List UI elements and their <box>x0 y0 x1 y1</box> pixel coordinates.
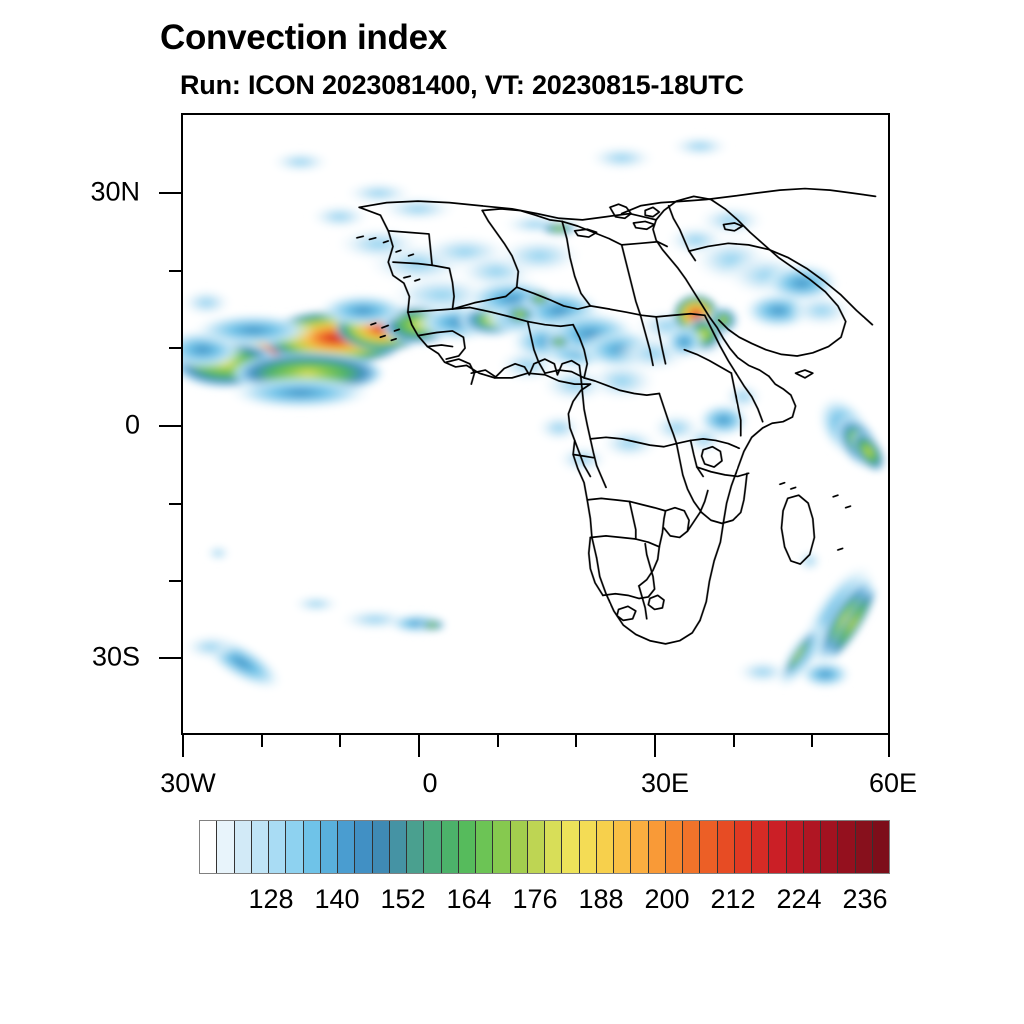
x-tick-minor-20e <box>575 735 577 747</box>
colorbar-cell-26 <box>649 821 666 873</box>
x-tick-30e <box>654 735 656 757</box>
colorbar-cell-37 <box>838 821 855 873</box>
y-tick-0 <box>159 425 181 427</box>
colorbar-cell-36 <box>821 821 838 873</box>
colorbar-cell-23 <box>597 821 614 873</box>
page-title: Convection index <box>160 18 447 58</box>
colorbar-cell-8 <box>338 821 355 873</box>
colorbar-cell-29 <box>700 821 717 873</box>
x-tick-minor-10e <box>497 735 499 747</box>
y-axis-label-30n: 30N <box>20 177 140 208</box>
x-tick-0 <box>418 735 420 757</box>
colorbar-cell-21 <box>562 821 579 873</box>
x-axis-label-60e: 60E <box>823 768 963 799</box>
x-axis-label-30e: 30E <box>595 768 735 799</box>
y-tick-minor-20s <box>169 580 181 582</box>
x-tick-60e <box>888 735 890 757</box>
colorbar[interactable] <box>199 820 890 874</box>
colorbar-cell-24 <box>614 821 631 873</box>
colorbar-cell-10 <box>373 821 390 873</box>
y-tick-30s <box>159 657 181 659</box>
colorbar-cell-28 <box>683 821 700 873</box>
y-tick-minor-10n <box>169 347 181 349</box>
x-axis-label-30w: 30W <box>118 768 258 799</box>
colorbar-cell-18 <box>511 821 528 873</box>
map-plot-area[interactable] <box>181 113 890 735</box>
colorbar-cell-17 <box>493 821 510 873</box>
colorbar-cell-33 <box>769 821 786 873</box>
colorbar-cell-34 <box>787 821 804 873</box>
y-axis-label-30s: 30S <box>20 642 140 673</box>
colorbar-cell-7 <box>321 821 338 873</box>
colorbar-cell-6 <box>304 821 321 873</box>
colorbar-cell-5 <box>286 821 303 873</box>
colorbar-cell-11 <box>390 821 407 873</box>
colorbar-cell-15 <box>459 821 476 873</box>
colorbar-cell-9 <box>355 821 372 873</box>
colorbar-cell-16 <box>476 821 493 873</box>
colorbar-cell-39 <box>873 821 889 873</box>
colorbar-cell-3 <box>252 821 269 873</box>
colorbar-cell-35 <box>804 821 821 873</box>
x-tick-minor-50e <box>811 735 813 747</box>
convection-index-heatmap <box>183 115 888 733</box>
colorbar-cell-31 <box>735 821 752 873</box>
colorbar-label-9: 236 <box>805 884 925 915</box>
y-tick-30n <box>159 192 181 194</box>
colorbar-cell-13 <box>424 821 441 873</box>
colorbar-cell-12 <box>407 821 424 873</box>
y-axis-label-0: 0 <box>20 410 140 441</box>
x-tick-30w <box>182 735 184 757</box>
x-tick-minor-40e <box>733 735 735 747</box>
colorbar-cell-20 <box>545 821 562 873</box>
colorbar-cell-1 <box>217 821 234 873</box>
colorbar-cell-4 <box>269 821 286 873</box>
colorbar-cell-0 <box>200 821 217 873</box>
colorbar-cell-22 <box>580 821 597 873</box>
colorbar-cell-30 <box>718 821 735 873</box>
x-axis-label-0: 0 <box>360 768 500 799</box>
run-valid-time-subtitle: Run: ICON 2023081400, VT: 20230815-18UTC <box>180 70 744 101</box>
colorbar-cell-2 <box>235 821 252 873</box>
y-tick-minor-10s <box>169 503 181 505</box>
x-tick-minor-10w <box>339 735 341 747</box>
colorbar-cell-38 <box>856 821 873 873</box>
x-tick-minor-20w <box>261 735 263 747</box>
colorbar-cell-27 <box>666 821 683 873</box>
y-tick-minor-20n <box>169 270 181 272</box>
colorbar-cell-25 <box>631 821 648 873</box>
colorbar-cell-14 <box>442 821 459 873</box>
colorbar-cell-19 <box>528 821 545 873</box>
colorbar-cell-32 <box>752 821 769 873</box>
